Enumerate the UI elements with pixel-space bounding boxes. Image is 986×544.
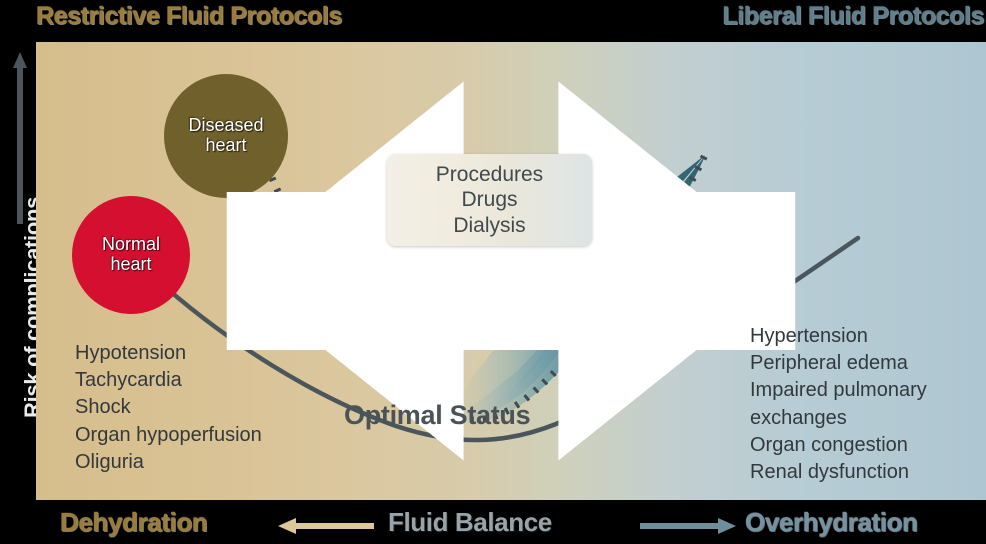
title-liberal-protocols: Liberal Fluid Protocols	[722, 2, 984, 31]
optimal-status-label: Optimal Status	[344, 400, 530, 431]
diagram-root: Restrictive Fluid Protocols Liberal Flui…	[0, 0, 986, 544]
list-item: Peripheral edema	[750, 350, 927, 377]
list-item: Impaired pulmonary	[750, 377, 927, 404]
list-item: Tachycardia	[75, 367, 262, 394]
x-axis-label-fluid-balance: Fluid Balance	[388, 507, 552, 538]
treatment-box: Procedures Drugs Dialysis	[387, 154, 592, 246]
right-symptom-list: Hypertension Peripheral edema Impaired p…	[750, 323, 927, 486]
left-symptom-list: Hypotension Tachycardia Shock Organ hypo…	[75, 340, 262, 476]
list-item: Hypotension	[75, 340, 262, 367]
list-item: Renal dysfunction	[750, 459, 927, 486]
x-axis-label-dehydration: Dehydration	[60, 507, 207, 538]
list-item: exchanges	[750, 405, 927, 432]
treatment-line-dialysis: Dialysis	[453, 213, 525, 239]
treatment-line-procedures: Procedures	[436, 162, 543, 188]
list-item: Oliguria	[75, 449, 262, 476]
list-item: Hypertension	[750, 323, 927, 350]
chart-panel: Diseased heart Normal heart Procedures D…	[36, 42, 986, 500]
list-item: Shock	[75, 394, 262, 421]
x-axis-left-arrow-icon	[278, 516, 374, 536]
title-restrictive-protocols: Restrictive Fluid Protocols	[36, 2, 342, 31]
list-item: Organ hypoperfusion	[75, 422, 262, 449]
x-axis-label-overhydration: Overhydration	[745, 507, 918, 538]
list-item: Organ congestion	[750, 432, 927, 459]
treatment-line-drugs: Drugs	[461, 187, 517, 213]
x-axis-right-arrow-icon	[640, 516, 736, 536]
